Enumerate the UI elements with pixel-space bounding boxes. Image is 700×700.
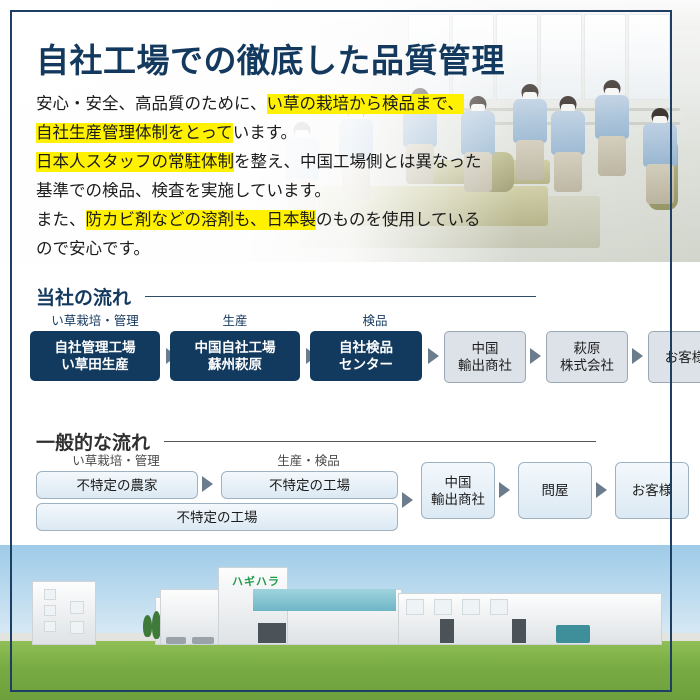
body-line: ので安心です。 — [36, 235, 506, 264]
section1-label: 当社の流れ — [36, 283, 131, 310]
body-text-plain: ので安心です。 — [36, 240, 150, 258]
flow2-arrow-icon — [499, 482, 510, 498]
photo-window — [70, 601, 84, 614]
box-line1: 不特定の工場 — [269, 477, 350, 494]
flow1-box-china-exporter[interactable]: 中国 輸出商社 — [444, 331, 526, 383]
flow1-box-customer[interactable]: お客様 — [648, 331, 700, 383]
photo-company-sign: ハギハラ — [232, 573, 280, 589]
box-line1: お客様 — [632, 482, 673, 499]
box-line2: 株式会社 — [560, 358, 614, 373]
body-line: また、防カビ剤などの溶剤も、日本製のものを使用している — [36, 206, 506, 235]
box-line1: 萩原 — [574, 341, 601, 356]
box-line1: 不特定の工場 — [177, 509, 258, 526]
box-line2: い草田生産 — [61, 357, 129, 372]
box-line1: 自社検品 — [339, 340, 393, 355]
body-text-plain: 基準での検品、検査を実施しています。 — [36, 182, 331, 200]
flow2-arrow-icon — [596, 482, 607, 498]
flow2-box-unspecified-factory-top[interactable]: 不特定の工場 — [221, 471, 398, 499]
body-text-plain: のものを使用している — [316, 211, 481, 229]
box-line1: 中国 — [445, 475, 472, 490]
flow1-arrow-icon — [632, 348, 643, 364]
flow2-caption: い草栽培・管理 — [36, 450, 196, 469]
photo-window — [462, 599, 480, 615]
box-line2: センター — [339, 357, 393, 372]
body-text-highlight: 日本人スタッフの常駐体制 — [36, 152, 234, 172]
body-text-plain: また、 — [36, 211, 86, 229]
page-title: 自社工場での徹底した品質管理 — [36, 34, 505, 82]
photo-car — [192, 637, 214, 644]
flow1-caption: 検品 — [310, 310, 440, 329]
body-text-highlight: 日本製 — [267, 210, 317, 230]
box-line1: 問屋 — [542, 482, 569, 499]
photo-glass-facade — [253, 589, 396, 611]
flow1-box-inspection-center[interactable]: 自社検品 センター — [310, 331, 422, 381]
box-line2: 蘇州萩原 — [208, 357, 262, 372]
section-heading-our-flow: 当社の流れ — [36, 283, 536, 310]
flow2-arrow-icon — [202, 476, 213, 492]
flow2-caption: 生産・検品 — [221, 450, 396, 469]
photo-lawn — [0, 641, 700, 700]
photo-window — [70, 621, 84, 634]
photo-loading-door — [440, 619, 454, 643]
box-line1: 不特定の農家 — [77, 477, 158, 494]
photo-window — [490, 599, 508, 615]
photo-entrance-door — [258, 623, 286, 643]
body-line: 自社生産管理体制をとっています。 — [36, 119, 506, 148]
flow1-box-hagihara[interactable]: 萩原 株式会社 — [546, 331, 628, 383]
photo-loading-door — [512, 619, 526, 643]
section1-rule — [145, 296, 536, 297]
photo-car — [166, 637, 186, 644]
flow2-box-unspecified-factory-wide[interactable]: 不特定の工場 — [36, 503, 398, 531]
photo-office-block — [32, 581, 96, 645]
photo-window — [406, 599, 424, 615]
flow1-caption: い草栽培・管理 — [30, 310, 160, 329]
flow1-caption: 生産 — [170, 310, 300, 329]
general-flow-diagram: い草栽培・管理 生産・検品 不特定の農家 不特定の工場 不特定の工場 中国 輸出… — [36, 450, 676, 528]
body-text-plain: います。 — [233, 124, 297, 142]
box-line1: お客様 — [665, 349, 700, 366]
photo-truck — [556, 625, 590, 643]
body-text-highlight: 自社生産管理体制をとって — [36, 123, 233, 143]
photo-window — [44, 621, 56, 632]
body-text: 安心・安全、高品質のために、い草の栽培から検品まで、 自社生産管理体制をとってい… — [36, 90, 506, 264]
box-line2: 輸出商社 — [431, 492, 485, 507]
body-line: 安心・安全、高品質のために、い草の栽培から検品まで、 — [36, 90, 506, 119]
box-line1: 中国自社工場 — [195, 340, 276, 355]
flow1-box-own-factory[interactable]: 自社管理工場 い草田生産 — [30, 331, 160, 381]
flow2-box-customer[interactable]: お客様 — [615, 462, 689, 519]
flow1-arrow-icon — [428, 348, 439, 364]
flow2-arrow-icon — [402, 492, 413, 508]
flow2-box-wholesaler[interactable]: 問屋 — [518, 462, 592, 519]
body-text-plain: 安心・安全、高品質のために、 — [36, 95, 267, 113]
box-line1: 中国 — [472, 341, 499, 356]
photo-window — [434, 599, 452, 615]
body-text-highlight: い草の栽培から検品まで、 — [267, 94, 464, 114]
photo-window — [44, 589, 56, 600]
flow2-box-china-exporter[interactable]: 中国 輸出商社 — [421, 462, 495, 519]
box-line2: 輸出商社 — [458, 358, 512, 373]
box-line1: 自社管理工場 — [55, 340, 136, 355]
factory-exterior-photo: ハギハラ — [0, 545, 700, 700]
infographic-canvas: 自社工場での徹底した品質管理 安心・安全、高品質のために、い草の栽培から検品まで… — [0, 0, 700, 700]
body-line: 日本人スタッフの常駐体制を整え、中国工場側とは異なった — [36, 148, 506, 177]
flow1-arrow-icon — [530, 348, 541, 364]
photo-window — [44, 605, 56, 616]
section2-rule — [164, 441, 596, 442]
body-text-plain: を整え、中国工場側とは異なった — [234, 153, 482, 171]
flow1-box-china-factory[interactable]: 中国自社工場 蘇州萩原 — [170, 331, 300, 381]
flow2-box-unspecified-farm[interactable]: 不特定の農家 — [36, 471, 198, 499]
body-line: 基準での検品、検査を実施しています。 — [36, 177, 506, 206]
our-flow-diagram: い草栽培・管理 生産 検品 自社管理工場 い草田生産 中国自社工場 蘇州萩原 自… — [30, 310, 675, 382]
photo-tree — [143, 615, 152, 637]
body-text-highlight: 防カビ剤などの溶剤も、 — [86, 210, 267, 230]
